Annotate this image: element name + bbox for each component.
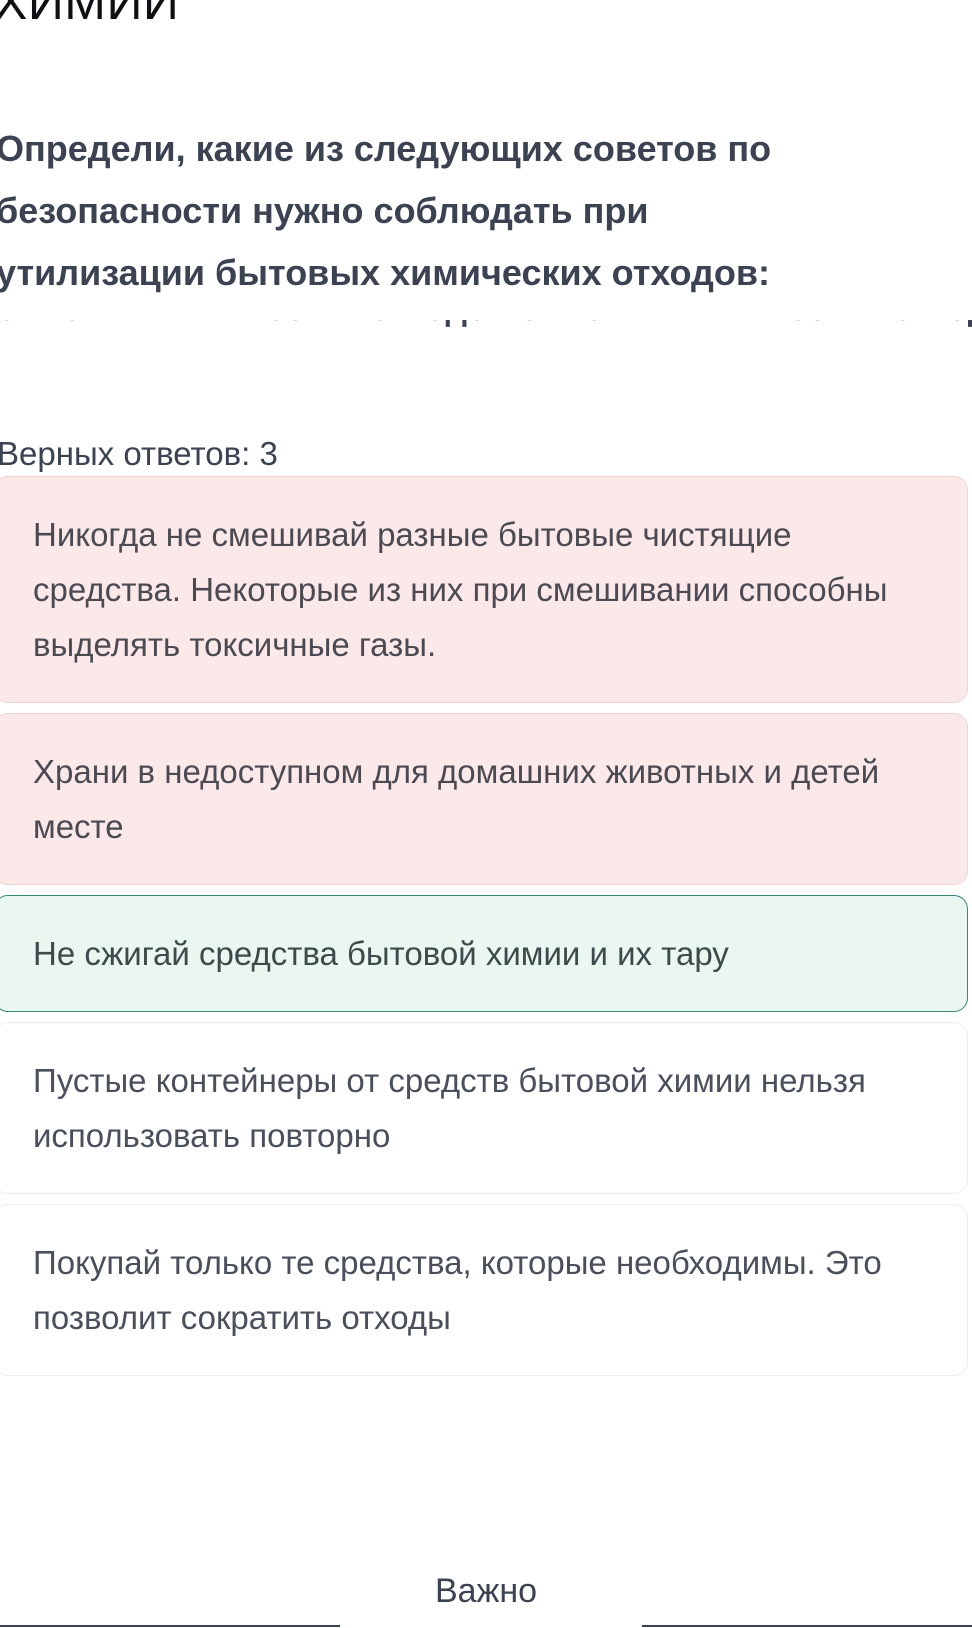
option-card-4[interactable]: Пустые контейнеры от средств бытовой хим… bbox=[0, 1022, 968, 1194]
question-line-1: Определи, какие из следующих советов по bbox=[0, 118, 972, 180]
subject-title-text: ХИМИИ bbox=[0, 0, 972, 38]
question-line-2: безопасности нужно соблюдать при bbox=[0, 180, 972, 242]
option-label-2: Храни в недоступном для домашних животны… bbox=[33, 744, 933, 854]
question-clipped-continuation-text: бытовых химических отходов бытовых химич… bbox=[0, 320, 972, 340]
footer-label[interactable]: Важно bbox=[0, 1566, 972, 1616]
footer-divider-right bbox=[642, 1625, 972, 1627]
answers-count-label: Верных ответов: 3 bbox=[0, 432, 278, 476]
option-label-1: Никогда не смешивай разные бытовые чистя… bbox=[33, 507, 933, 672]
option-card-3[interactable]: Не сжигай средства бытовой химии и их та… bbox=[0, 895, 968, 1012]
option-card-1[interactable]: Никогда не смешивай разные бытовые чистя… bbox=[0, 476, 968, 703]
question-line-3: утилизации бытовых химических отходов: bbox=[0, 242, 972, 304]
question-stem: Определи, какие из следующих советов по … bbox=[0, 118, 972, 304]
footer-divider-left bbox=[0, 1625, 340, 1627]
question-clipped-continuation: бытовых химических отходов бытовых химич… bbox=[0, 320, 972, 344]
option-label-5: Покупай только те средства, которые необ… bbox=[33, 1235, 933, 1345]
footer-bar: Важно bbox=[0, 1518, 972, 1628]
option-card-5[interactable]: Покупай только те средства, которые необ… bbox=[0, 1204, 968, 1376]
quiz-screen: ХИМИИ Определи, какие из следующих совет… bbox=[0, 0, 972, 1628]
footer-label-wrap: Важно bbox=[0, 1566, 972, 1628]
options-list: Никогда не смешивай разные бытовые чистя… bbox=[0, 476, 972, 1386]
option-label-3: Не сжигай средства бытовой химии и их та… bbox=[33, 926, 933, 981]
option-label-4: Пустые контейнеры от средств бытовой хим… bbox=[33, 1053, 933, 1163]
subject-title-clipped: ХИМИИ bbox=[0, 0, 972, 38]
option-card-2[interactable]: Храни в недоступном для домашних животны… bbox=[0, 713, 968, 885]
